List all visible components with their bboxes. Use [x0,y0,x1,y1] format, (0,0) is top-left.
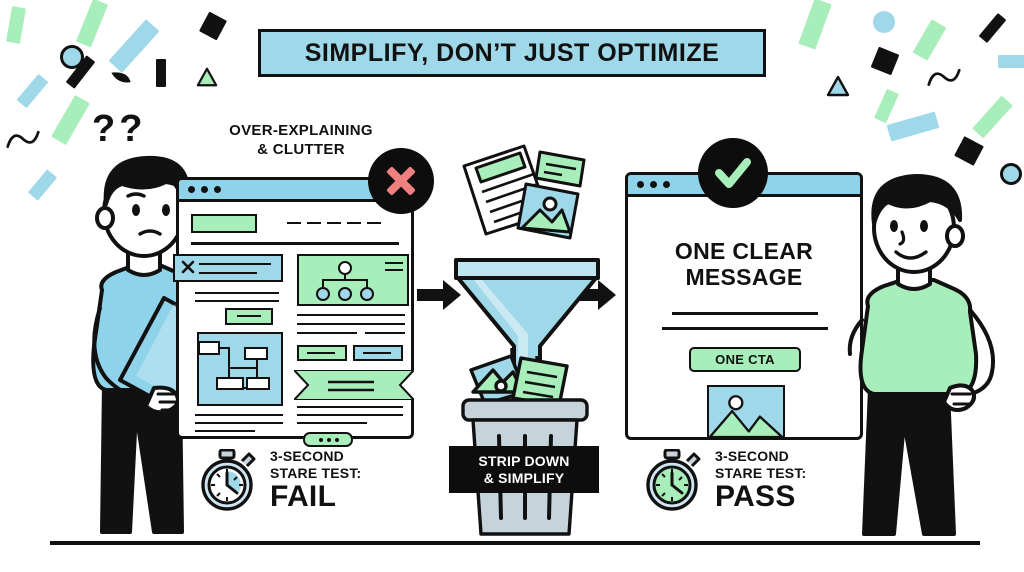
image-placeholder [707,385,785,439]
content-line [327,222,341,224]
headline-line2: MESSAGE [628,265,860,291]
confetti-rect [874,89,899,124]
confetti-squiggle [925,66,963,88]
headline-rule [662,327,828,330]
content-line [195,300,279,302]
content-divider [191,242,399,245]
content-line [195,422,283,424]
confetti-rect [871,47,900,76]
ellipsis-icon [317,436,341,444]
confetti-rect [109,19,160,73]
check-badge [698,138,768,208]
confetti-rect [972,96,1013,139]
ground-line [50,541,980,545]
content-line [199,272,257,274]
headline-line1: ONE CLEAR [628,239,860,265]
cluttered-webpage-window [176,177,414,439]
content-block [191,214,257,233]
page-title: SIMPLIFY, DON’T JUST OPTIMIZE [305,39,720,68]
window-dot [214,186,221,193]
page-title-banner: SIMPLIFY, DON’T JUST OPTIMIZE [258,29,766,77]
content-line [195,414,283,416]
confetti-rect [76,0,108,47]
x-mark-icon [384,164,418,198]
confetti-rect [798,0,831,50]
close-icon [181,260,195,274]
confetti-squiggle [6,122,40,156]
content-line [367,222,381,224]
clean-webpage-window: ONE CLEAR MESSAGE ONE CTA [625,172,863,440]
confetti-rect [17,74,49,108]
confident-person-illustration [842,150,1024,544]
confetti-circle [873,11,895,33]
window-dot [188,186,195,193]
confetti-tri [826,75,850,97]
confetti-rect [6,6,26,44]
content-line [237,315,261,317]
content-line [297,414,403,416]
cta-button[interactable]: ONE CTA [689,347,801,372]
stare-test-fail: 3-SECOND STARE TEST: FAIL [198,448,361,512]
confetti-rect [199,12,227,41]
confetti-tri [196,66,218,88]
content-line [297,314,405,316]
content-line [287,222,301,224]
content-line [195,430,255,432]
content-line [297,422,367,424]
content-line [297,323,405,325]
content-line [195,292,279,294]
ribbon-banner-icon [294,370,414,400]
stare-test-line1: 3-SECOND [715,448,806,465]
content-line [385,269,403,271]
cluttered-content [179,202,411,458]
confetti-rect [979,13,1007,43]
content-line [199,263,271,265]
content-line [307,222,321,224]
confetti-leaf [110,70,132,84]
content-line [365,332,405,334]
stopwatch-icon-pass [643,449,701,511]
confetti-rect [66,55,96,89]
content-line [363,352,391,354]
clean-headline: ONE CLEAR MESSAGE [628,239,860,291]
stare-test-line1: 3-SECOND [270,448,361,465]
image-icon [709,387,783,437]
infographic-canvas: SIMPLIFY, DON’T JUST OPTIMIZE OVER-EXPLA… [0,0,1024,572]
window-dot [663,181,670,188]
content-line [347,222,361,224]
confetti-rect [156,59,166,87]
funnel-icon [452,140,602,380]
hierarchy-diagram-icon [311,260,379,302]
confetti-rect [887,111,940,141]
window-dot [650,181,657,188]
clean-content: ONE CLEAR MESSAGE ONE CTA [628,197,860,459]
stare-test-verdict-pass: PASS [715,482,806,512]
confetti-circle [60,45,84,69]
strip-down-banner: STRIP DOWN & SIMPLIFY [449,446,599,493]
flowchart-icon [199,334,281,404]
window-dot [637,181,644,188]
strip-banner-line2: & SIMPLIFY [484,470,565,487]
content-line [297,332,357,334]
content-line [307,352,335,354]
strip-banner-line1: STRIP DOWN [478,453,569,470]
confetti-rect [913,19,947,60]
confetti-rect [998,55,1024,68]
stare-test-verdict-fail: FAIL [270,482,361,512]
x-badge [368,148,434,214]
stare-test-pass: 3-SECOND STARE TEST: PASS [643,448,806,512]
content-line [297,406,403,408]
check-mark-icon [713,153,753,193]
content-line [385,262,403,264]
headline-rule [672,312,818,315]
confetti-rect [28,169,57,200]
stopwatch-icon-fail [198,449,256,511]
window-dot [201,186,208,193]
